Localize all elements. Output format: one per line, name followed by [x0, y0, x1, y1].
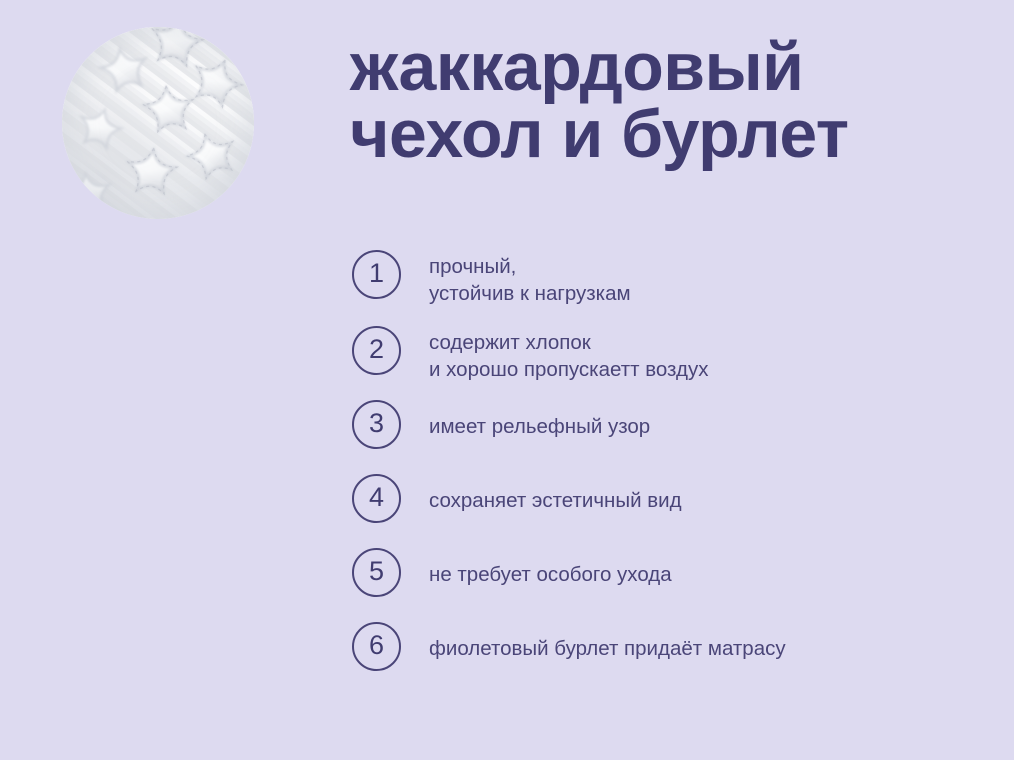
list-item: 3 имеет рельефный узор — [352, 400, 992, 474]
list-item-label: прочный, устойчив к нагрузкам — [429, 250, 631, 308]
feature-list: 1 прочный, устойчив к нагрузкам 2 содерж… — [352, 250, 992, 696]
list-item-number-badge: 4 — [352, 474, 401, 523]
list-item-number-badge: 5 — [352, 548, 401, 597]
list-item-number: 5 — [369, 558, 384, 585]
list-item-number: 6 — [369, 632, 384, 659]
list-item-label: содержит хлопок и хорошо пропускаетт воз… — [429, 326, 708, 384]
slide-root: жаккардовый чехол и бурлет 1 прочный, ус… — [0, 0, 1014, 760]
list-item-label: фиолетовый бурлет придаёт матрасу — [429, 622, 786, 662]
list-item-number: 1 — [369, 260, 384, 287]
list-item: 4 сохраняет эстетичный вид — [352, 474, 992, 548]
list-item-number: 2 — [369, 336, 384, 363]
list-item-label: имеет рельефный узор — [429, 400, 650, 440]
list-item-number-badge: 6 — [352, 622, 401, 671]
list-item: 1 прочный, устойчив к нагрузкам — [352, 250, 992, 326]
list-item: 2 содержит хлопок и хорошо пропускаетт в… — [352, 326, 992, 400]
list-item-label: сохраняет эстетичный вид — [429, 474, 682, 514]
list-item-number-badge: 1 — [352, 250, 401, 299]
list-item: 5 не требует особого ухода — [352, 548, 992, 622]
list-item-number: 4 — [369, 484, 384, 511]
list-item-label: не требует особого ухода — [429, 548, 672, 588]
list-item-number-badge: 3 — [352, 400, 401, 449]
list-item-number: 3 — [369, 410, 384, 437]
page-title: жаккардовый чехол и бурлет — [350, 34, 1014, 169]
list-item: 6 фиолетовый бурлет придаёт матрасу — [352, 622, 992, 696]
list-item-number-badge: 2 — [352, 326, 401, 375]
fabric-swatch-image — [62, 27, 254, 219]
fabric-quilting-pattern — [62, 27, 254, 219]
